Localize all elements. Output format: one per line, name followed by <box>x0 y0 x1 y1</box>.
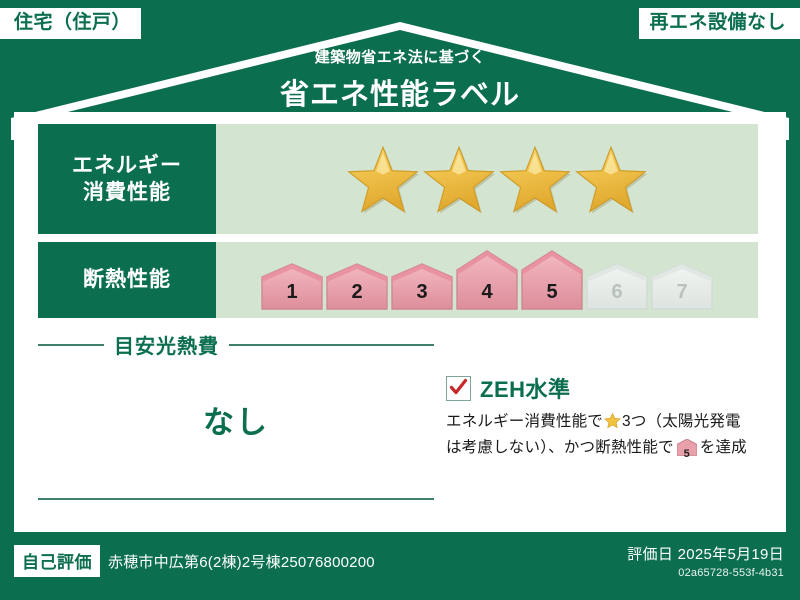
zeh-description: エネルギー消費性能で 3つ（太陽光発電 は考慮しない）、かつ断熱性能で 5 を達… <box>446 410 764 464</box>
rule-right <box>229 344 434 346</box>
star-rating-area <box>216 124 758 234</box>
inline-star-icon <box>604 412 621 436</box>
energy-performance-label-head: エネルギー 消費性能 <box>38 124 216 234</box>
insulation-grade-value: 3 <box>391 281 453 304</box>
utility-cost-value: なし <box>38 397 434 442</box>
star-icon <box>575 144 647 214</box>
evaluation-date: 評価日 2025年5月19日 <box>627 543 784 564</box>
title-block: 建築物省エネ法に基づく 省エネ性能ラベル <box>0 46 800 113</box>
zeh-checkbox[interactable] <box>446 376 471 401</box>
star-icon <box>347 144 419 214</box>
star-icon <box>499 144 571 214</box>
insulation-grade-value: 5 <box>521 281 583 304</box>
renewable-energy-tag: 再エネ設備なし <box>639 8 800 39</box>
insulation-grade-value: 1 <box>261 281 323 304</box>
insulation-grade-house: 6 <box>586 263 648 310</box>
insulation-grade-house: 4 <box>456 250 518 310</box>
insulation-grade-value: 6 <box>586 281 648 304</box>
title-subtitle: 建築物省エネ法に基づく <box>0 46 800 67</box>
energy-label-line1: エネルギー <box>72 152 182 179</box>
utility-cost-header: 目安光熱費 <box>38 330 434 359</box>
check-icon <box>448 377 469 398</box>
zeh-desc-part3: は考慮しない）、かつ断熱性能で <box>446 439 674 456</box>
insulation-grade-house: 2 <box>326 263 388 310</box>
insulation-performance-row: 断熱性能 1234567 <box>38 242 758 318</box>
insulation-grade-area: 1234567 <box>216 242 758 318</box>
zeh-title-row: ZEH水準 <box>446 372 764 404</box>
inline-house-icon: 5 <box>677 439 697 463</box>
inline-house-value: 5 <box>677 446 697 463</box>
zeh-title: ZEH水準 <box>480 372 571 404</box>
zeh-desc-part1: エネルギー消費性能で <box>446 413 603 430</box>
footer-right: 評価日 2025年5月19日 02a65728-553f-4b31 <box>627 543 784 579</box>
insulation-grade-house: 7 <box>651 263 713 310</box>
footer-left: 自己評価 赤穂市中広第6(2棟)2号棟25076800200 <box>14 545 375 577</box>
self-evaluation-badge: 自己評価 <box>14 545 100 577</box>
insulation-grade-value: 4 <box>456 281 518 304</box>
utility-cost-title: 目安光熱費 <box>114 330 219 359</box>
footer: 自己評価 赤穂市中広第6(2棟)2号棟25076800200 評価日 2025年… <box>0 532 800 600</box>
insulation-grade-house: 5 <box>521 250 583 310</box>
rule-left <box>38 344 104 346</box>
lower-section: 目安光熱費 なし ZEH水準 エネルギー消費性能で <box>38 330 762 520</box>
energy-performance-label: 住宅（住戸） 再エネ設備なし 建築物省エネ法に基づく 省エネ性能ラベル エネルギ… <box>0 0 800 600</box>
insulation-grade-house: 3 <box>391 263 453 310</box>
star-icon <box>423 144 495 214</box>
utility-cost-column: 目安光熱費 なし <box>38 330 434 442</box>
page-title: 省エネ性能ラベル <box>0 71 800 113</box>
insulation-grade-value: 2 <box>326 281 388 304</box>
utility-cost-bottom-rule <box>38 498 434 500</box>
energy-label-line2: 消費性能 <box>83 179 171 206</box>
zeh-desc-part2: 3つ（太陽光発電 <box>622 413 741 430</box>
zeh-desc-part4: を達成 <box>700 439 747 456</box>
insulation-grade-scale: 1234567 <box>261 250 713 310</box>
star-rating <box>347 144 647 214</box>
label-card: エネルギー 消費性能 断熱性能 1234567 目安光熱費 <box>14 112 786 532</box>
insulation-performance-label-head: 断熱性能 <box>38 242 216 318</box>
building-type-tag: 住宅（住戸） <box>0 8 141 39</box>
property-address: 赤穂市中広第6(2棟)2号棟25076800200 <box>108 551 375 572</box>
insulation-grade-house: 1 <box>261 263 323 310</box>
insulation-label: 断熱性能 <box>83 266 171 293</box>
insulation-grade-value: 7 <box>651 281 713 304</box>
evaluation-id: 02a65728-553f-4b31 <box>627 567 784 579</box>
energy-performance-row: エネルギー 消費性能 <box>38 124 758 234</box>
zeh-column: ZEH水準 エネルギー消費性能で 3つ（太陽光発電 は考慮しない）、かつ断熱性能… <box>446 372 764 464</box>
